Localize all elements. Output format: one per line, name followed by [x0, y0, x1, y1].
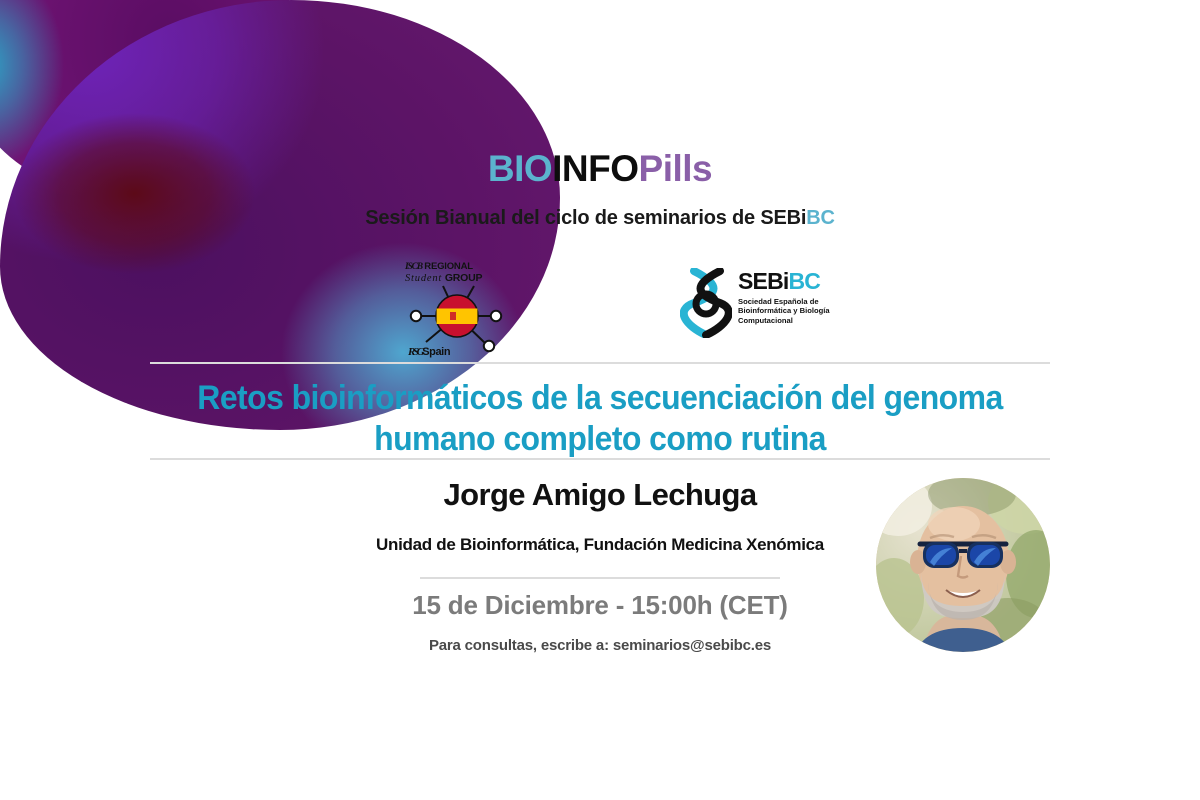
sebibc-desc-line1: Sociedad Española de — [738, 297, 862, 306]
sebibc-name-cyan: BC — [788, 268, 820, 294]
sebibc-name: SEBiBC — [738, 270, 862, 293]
sebibc-desc-line3: Computacional — [738, 316, 862, 325]
webinar-poster: BIOINFOPills Sesión Bianual del ciclo de… — [0, 0, 1200, 800]
iscb-mark: ISCB — [405, 262, 422, 272]
series-subtitle-accent: BC — [806, 207, 835, 229]
iscb-logo-line2: Student GROUP — [405, 273, 517, 284]
brand-part-pills: Pills — [639, 148, 713, 189]
iscb-rsg-mark: RSG — [408, 346, 422, 358]
portrait-image — [876, 478, 1050, 652]
brand-wordmark: BIOINFOPills — [0, 148, 1200, 190]
dna-helix-icon — [680, 268, 732, 338]
iscb-logo-heading: ISCB REGIONAL Student GROUP — [405, 262, 517, 284]
contact-line[interactable]: Para consultas, escribe a: seminarios@se… — [150, 637, 1050, 654]
iscb-rsg-spain-logo: ISCB REGIONAL Student GROUP RSGSpain — [398, 258, 516, 360]
sebibc-logo-text: SEBiBC Sociedad Española de Bioinformáti… — [738, 270, 862, 325]
sebibc-logo: SEBiBC Sociedad Española de Bioinformáti… — [680, 268, 860, 346]
talk-title: Retos bioinformáticos de la secuenciació… — [177, 378, 1023, 461]
iscb-logo-bottom: RSGSpain — [408, 346, 450, 358]
series-subtitle: Sesión Bianual del ciclo de seminarios d… — [0, 207, 1200, 230]
series-subtitle-text: Sesión Bianual del ciclo de seminarios d… — [365, 207, 806, 229]
iscb-student-text: Student — [405, 273, 442, 284]
divider-short — [420, 577, 780, 579]
iscb-spain-text: Spain — [422, 346, 450, 358]
logo-row: ISCB REGIONAL Student GROUP RSGSpain SEB… — [0, 256, 1200, 361]
iscb-regional-text: REGIONAL — [422, 261, 473, 272]
brand-part-info: INFO — [552, 148, 638, 189]
speaker-photo — [876, 478, 1050, 652]
divider-top — [150, 362, 1050, 364]
sebibc-name-dark: SEBi — [738, 268, 788, 294]
brand-part-bio: BIO — [488, 148, 552, 189]
sebibc-description: Sociedad Española de Bioinformática y Bi… — [738, 297, 862, 325]
sebibc-desc-line2: Bioinformática y Biología — [738, 306, 862, 315]
iscb-group-text: GROUP — [442, 272, 482, 284]
